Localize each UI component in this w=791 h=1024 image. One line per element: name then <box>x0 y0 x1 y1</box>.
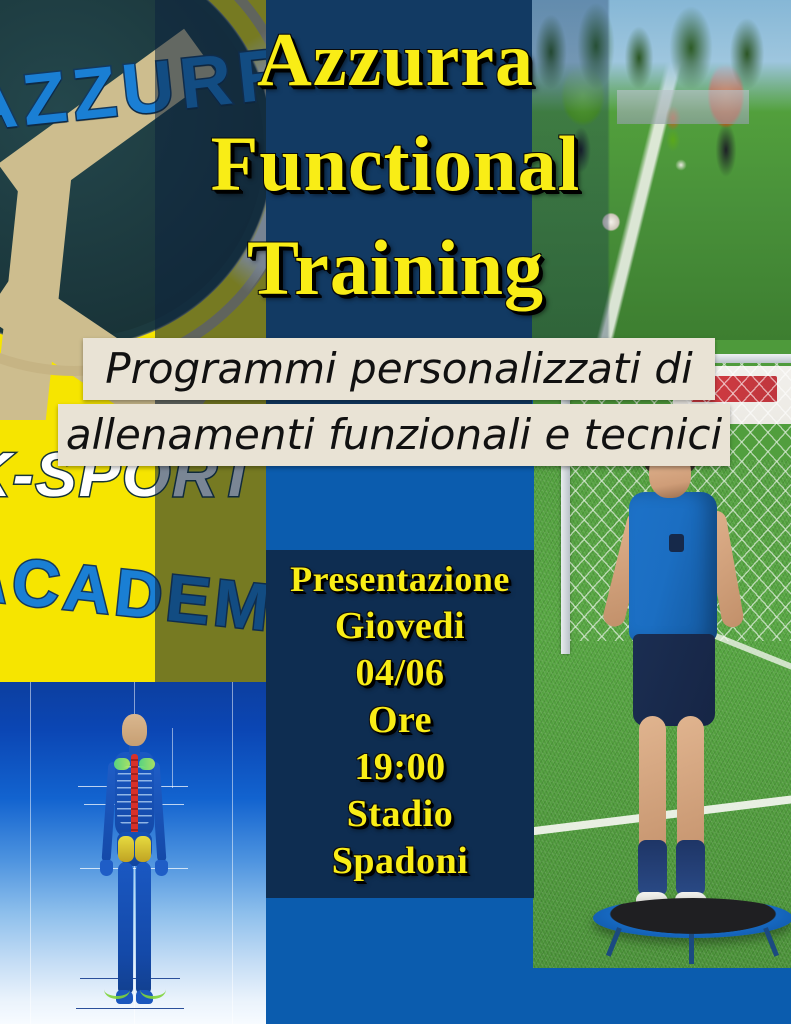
player-sock-right <box>676 840 705 896</box>
poster-title: Azzurra Functional Training <box>0 8 791 320</box>
anatomy-head <box>122 714 147 746</box>
anatomy-hand-right <box>155 860 168 876</box>
mid-blue-band <box>266 455 534 555</box>
anatomy-spine <box>131 754 138 834</box>
anatomy-figure <box>96 714 172 1004</box>
measurement-guide-vertical <box>30 682 31 1024</box>
bottom-blue-strip <box>533 968 791 1024</box>
measurement-guide-horizontal <box>76 1008 184 1009</box>
measurement-guide-vertical <box>172 728 173 788</box>
anatomy-shoulder-left <box>114 758 130 770</box>
anatomy-leg-left <box>118 862 133 994</box>
anatomy-leg-right <box>136 862 151 994</box>
club-badge <box>669 534 684 552</box>
anatomy-hip-right <box>135 836 151 862</box>
title-line-azzurra: Azzurra <box>0 8 791 112</box>
poster-canvas: AZZURRA K-SPORT ACADEMY <box>0 0 791 1024</box>
event-time-label: Ore <box>266 697 534 744</box>
trampoline-rim <box>593 898 791 938</box>
event-venue-line-1: Stadio <box>266 791 534 838</box>
event-date: 04/06 <box>266 650 534 697</box>
trampoline-leg <box>689 934 694 964</box>
event-time: 19:00 <box>266 744 534 791</box>
mini-trampoline <box>593 898 791 950</box>
anatomy-hand-left <box>100 860 113 876</box>
player-sock-left <box>638 840 667 896</box>
event-heading: Presentazione <box>266 556 534 603</box>
subtitle-line-1: Programmi personalizzati di <box>83 338 715 400</box>
title-line-training: Training <box>0 216 791 320</box>
posture-analysis-graphic <box>0 682 266 1024</box>
player-shirt <box>629 492 717 642</box>
foot-arch-marker-right <box>140 980 166 999</box>
event-details: Presentazione Giovedi 04/06 Ore 19:00 St… <box>266 556 534 885</box>
title-line-functional: Functional <box>0 112 791 216</box>
anatomy-shoulder-right <box>139 758 155 770</box>
event-day: Giovedi <box>266 603 534 650</box>
measurement-guide-vertical <box>232 682 233 1024</box>
player-figure <box>611 448 741 948</box>
subtitle-line-2: allenamenti funzionali e tecnici <box>58 404 730 466</box>
player-shorts <box>633 634 715 726</box>
event-venue-line-2: Spadoni <box>266 838 534 885</box>
foot-arch-marker-left <box>104 980 130 999</box>
anatomy-hip-left <box>118 836 134 862</box>
